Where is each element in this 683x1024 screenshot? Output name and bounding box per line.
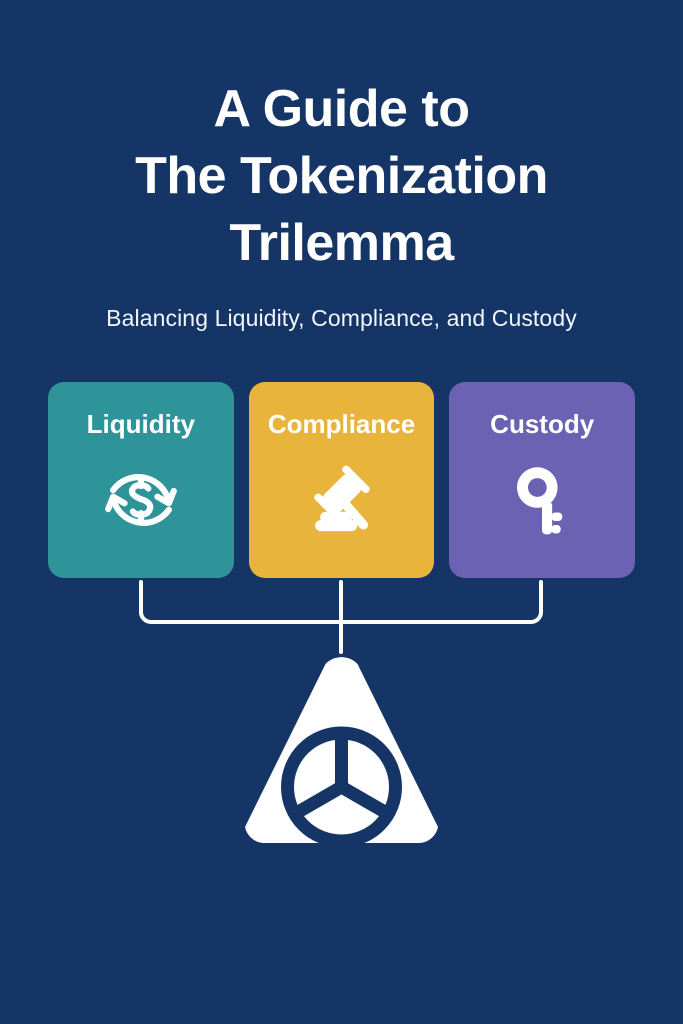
poster-canvas: A Guide to The Tokenization Trilemma Bal… bbox=[0, 0, 683, 1024]
title-line-3: Trilemma bbox=[0, 210, 683, 277]
pillar-card-custody[interactable]: Custody bbox=[449, 382, 635, 578]
page-subtitle: Balancing Liquidity, Compliance, and Cus… bbox=[0, 303, 683, 333]
pillar-label-compliance: Compliance bbox=[268, 408, 415, 440]
trilemma-triangle-emblem bbox=[226, 650, 457, 848]
key-icon bbox=[494, 452, 590, 548]
title-line-2: The Tokenization bbox=[0, 143, 683, 210]
currency-exchange-icon bbox=[93, 452, 189, 548]
pillar-card-compliance[interactable]: Compliance bbox=[249, 382, 435, 578]
pillar-card-liquidity[interactable]: Liquidity bbox=[48, 382, 234, 578]
pillar-label-custody: Custody bbox=[490, 408, 594, 440]
title-line-1: A Guide to bbox=[0, 76, 683, 143]
page-title: A Guide to The Tokenization Trilemma bbox=[0, 76, 683, 277]
pillar-label-liquidity: Liquidity bbox=[87, 408, 195, 440]
pillar-card-row: Liquidity Compliance bbox=[48, 382, 635, 578]
gavel-icon bbox=[294, 452, 390, 548]
